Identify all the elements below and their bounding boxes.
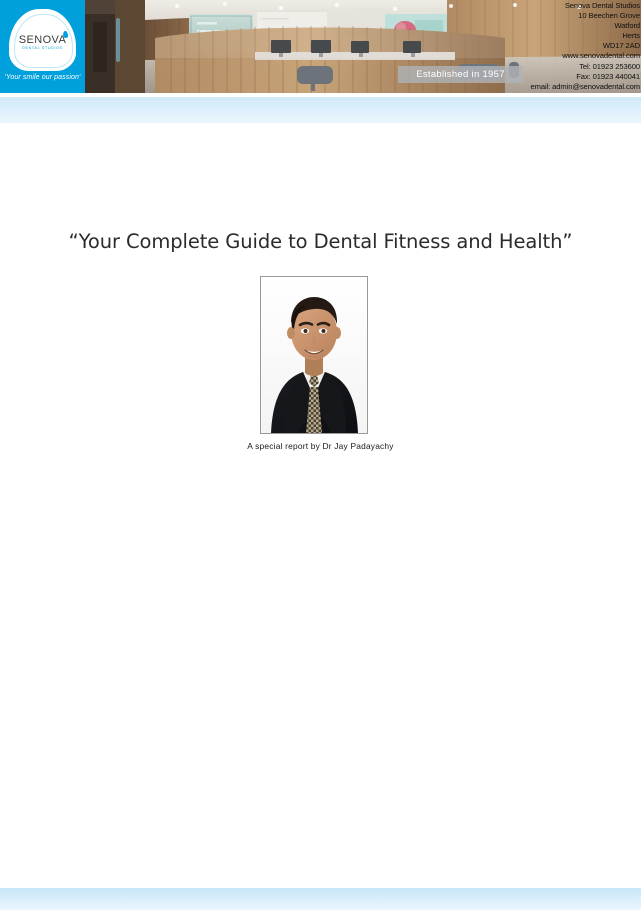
contact-line-postcode: WD17 2AD bbox=[480, 41, 640, 51]
footer-accent-band bbox=[0, 888, 641, 910]
author-portrait bbox=[260, 276, 368, 434]
contact-line-street: 10 Beechen Grove bbox=[480, 11, 640, 21]
contact-line-fax: Fax: 01923 440041 bbox=[480, 72, 640, 82]
contact-line-town: Watford bbox=[480, 21, 640, 31]
contact-line-practice: Senova Dental Studios bbox=[480, 1, 640, 11]
logo-shield-icon: SENOVA DENTAL STUDIOS bbox=[9, 9, 76, 71]
author-portrait-illustration bbox=[261, 277, 367, 433]
contact-line-email[interactable]: email: admin@senovadental.com bbox=[480, 82, 640, 92]
logo-brand-text: SENOVA bbox=[9, 34, 76, 46]
page-title: “Your Complete Guide to Dental Fitness a… bbox=[0, 230, 641, 253]
logo-subtitle-text: DENTAL STUDIOS bbox=[9, 46, 76, 50]
logo-tagline: 'Your smile our passion' bbox=[0, 74, 85, 81]
contact-line-website[interactable]: www.senovadental.com bbox=[480, 51, 640, 61]
contact-details: Senova Dental Studios 10 Beechen Grove W… bbox=[480, 1, 640, 92]
page-header: SENOVA DENTAL STUDIOS 'Your smile our pa… bbox=[0, 0, 641, 93]
author-byline: A special report by Dr Jay Padayachy bbox=[0, 441, 641, 451]
senova-logo: SENOVA DENTAL STUDIOS 'Your smile our pa… bbox=[0, 0, 85, 93]
contact-line-county: Herts bbox=[480, 31, 640, 41]
contact-line-telephone: Tel: 01923 253600 bbox=[480, 62, 640, 72]
header-accent-band bbox=[0, 97, 641, 123]
